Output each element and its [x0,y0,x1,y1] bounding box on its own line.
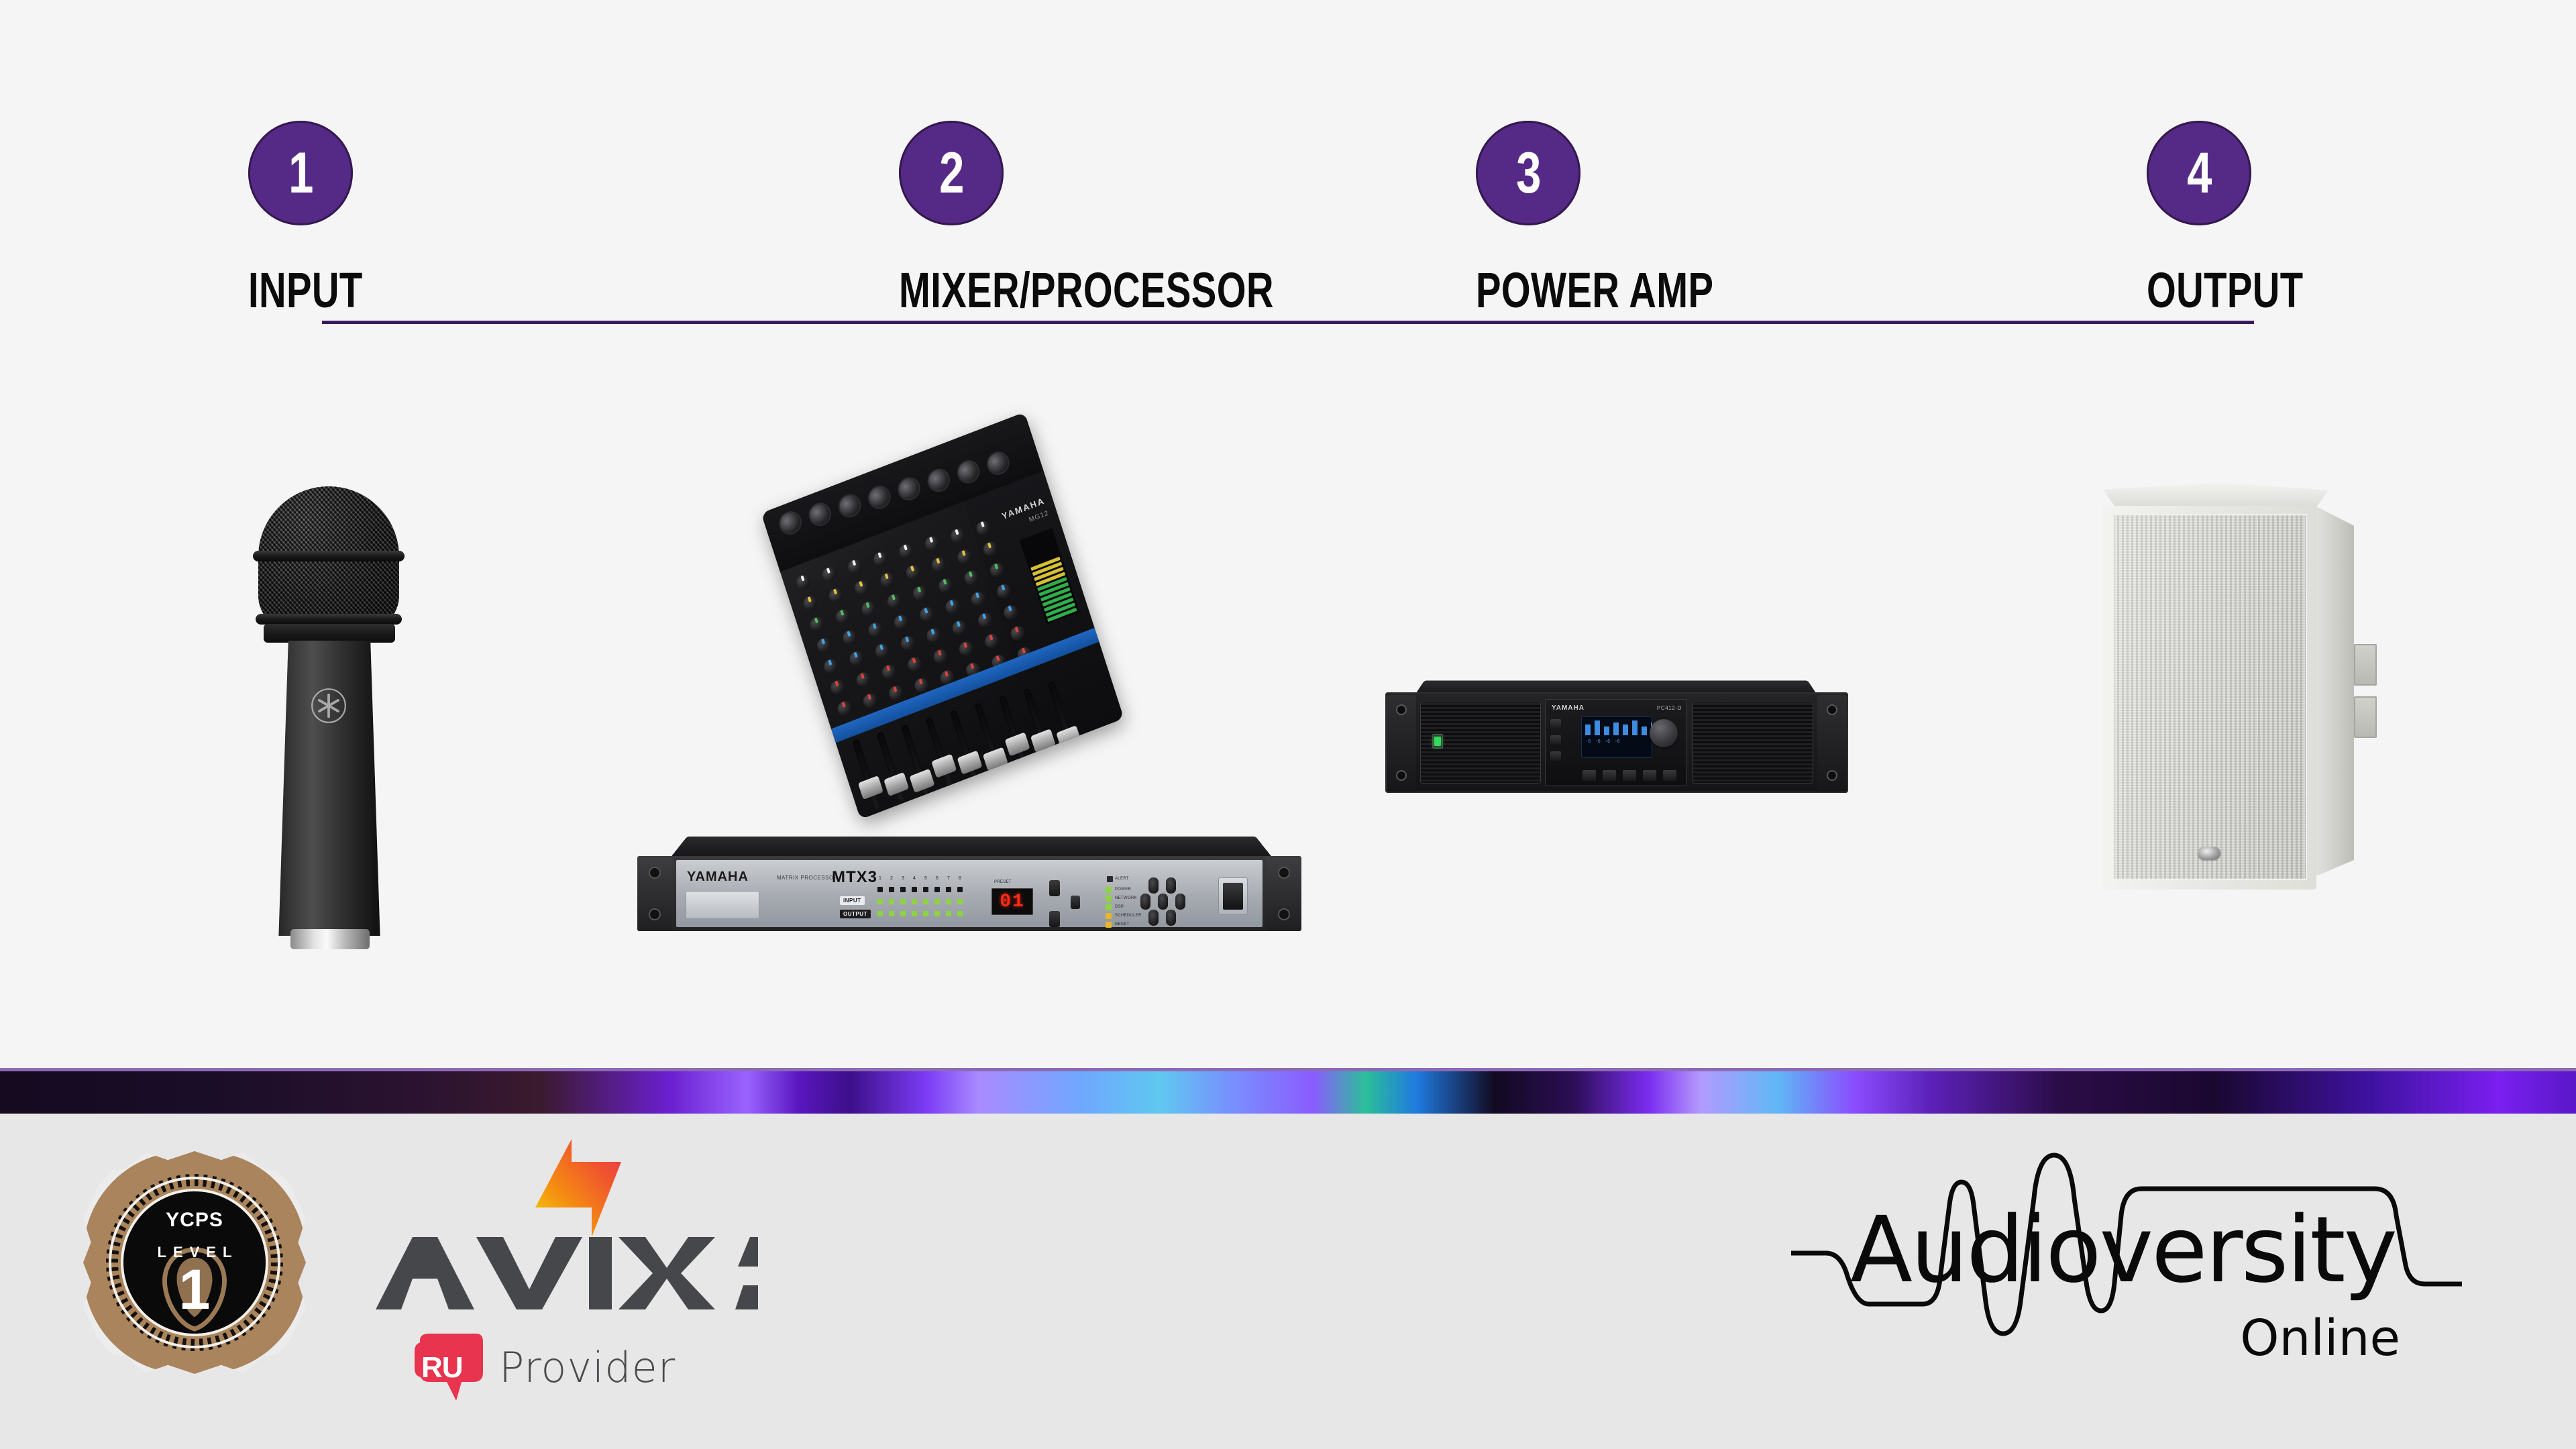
mixer-knob[interactable] [976,610,994,629]
mixer-fader-cap[interactable] [910,769,935,793]
matrix-led [923,899,928,904]
matrix-led [946,911,951,916]
mixer-knob[interactable] [846,557,863,576]
avixa-bolt-icon [530,1138,624,1238]
mixer-fader-cap[interactable] [931,754,957,778]
matrix-led [934,887,940,892]
mixer-jack [985,450,1010,476]
rack-ear-left [637,856,672,931]
amplifier-menu-button-c[interactable] [1550,751,1561,761]
matrix-led [889,887,894,892]
loudspeaker-bracket-upper [2354,644,2377,686]
mixer-knob[interactable] [944,597,961,616]
avixa-logo: RU Provider [376,1138,805,1393]
matrix-blank-plate [686,891,759,919]
mixer-knob[interactable] [872,549,890,568]
matrix-led [934,899,940,904]
amplifier-level-values: -6-6-6-6 [1585,739,1620,745]
amplifier-lcd-display: -6-6-6-6 [1581,716,1652,758]
amplifier-meter-value: -6 [1595,739,1600,745]
matrix-channel-numbers: 12345678 [877,876,963,881]
matrix-alert-label: ALERT [1115,877,1129,881]
matrix-channel-number: 4 [912,876,917,881]
mixer-jack [896,476,921,502]
matrix-status-label: SCHEDULER [1115,914,1142,918]
step-circle-4[interactable]: 4 [2147,121,2251,225]
matrix-led [912,911,917,916]
mixer-console-body: YAMAHA MG12 [761,412,1124,819]
mixer-knob[interactable] [937,576,955,595]
amplifier-chassis: YAMAHA PC412-D -6-6-6-6 [1385,692,1848,793]
microphone-collar [264,624,395,643]
matrix-processor-chassis: YAMAHA MATRIX PROCESSOR MTX3 12345678 IN… [637,856,1301,931]
mixer-knob[interactable] [861,692,879,710]
mixer-knob[interactable] [888,684,905,702]
mixer-jack [867,484,892,511]
mixer-knob[interactable] [855,670,872,689]
gradient-divider-strip [0,1068,2576,1114]
mixer-fader-cap[interactable] [858,775,883,800]
mixer-fader-cap[interactable] [957,751,983,775]
mixer-knob[interactable] [969,590,987,608]
diagram-stage: 1 INPUT 2 MIXER/PROCESSOR 3 POWER AMP 4 … [0,0,2576,1068]
mixer-knob[interactable] [904,563,922,582]
ru-label: RU [421,1351,463,1385]
mixer-knob[interactable] [836,699,853,718]
matrix-subtitle-label: MATRIX PROCESSOR [777,875,838,881]
footer-bar: YCPS LEVEL 1 [0,1114,2576,1449]
amplifier-softkey-4[interactable] [1643,770,1656,781]
mixer-fader[interactable] [852,739,881,811]
step-label-input: INPUT [248,262,363,319]
mixer-knob[interactable] [829,678,847,697]
step-circle-2[interactable]: 2 [899,121,1004,225]
amplifier-level-meters [1585,720,1652,735]
matrix-vent [1158,894,1168,910]
mixer-knob[interactable] [911,584,928,603]
mixer-knob[interactable] [795,573,812,592]
microphone-ring-upper [253,551,405,561]
matrix-status-led [1106,922,1112,928]
matrix-led [946,899,951,904]
matrix-led [912,887,917,892]
audioversity-wordmark: Audioversity [1850,1205,2396,1296]
matrix-led [900,911,906,916]
matrix-status-led [1106,913,1112,919]
mixer-knob[interactable] [885,592,903,610]
matrix-status-label: NETWORK [1115,896,1137,900]
amplifier-meter-bar [1632,720,1638,735]
loudspeaker-brand-badge [2198,847,2220,860]
mixer-knob[interactable] [860,600,877,619]
mixer-jack [956,459,981,485]
matrix-led [877,899,883,904]
mixer-knob[interactable] [925,626,943,645]
mixer-knob[interactable] [906,655,924,674]
amplifier-meter-bar [1613,722,1619,735]
amplifier-meter-bar [1595,720,1600,735]
step-number-4: 4 [2187,144,2212,202]
mixer-knob[interactable] [873,641,891,660]
step-number-1: 1 [288,144,313,202]
step-circle-1[interactable]: 1 [248,121,353,225]
mixer-jack [808,501,833,527]
badge-inner-disc: YCPS LEVEL 1 [123,1191,266,1334]
amplifier-model-label: PC412-D [1657,705,1682,711]
amplifier-control-panel: YAMAHA PC412-D -6-6-6-6 [1545,699,1687,786]
provider-label: Provider [499,1343,676,1392]
loudspeaker-cabinet [2102,506,2316,890]
matrix-led [877,911,883,916]
mixer-knob[interactable] [918,605,936,624]
matrix-led [889,911,894,916]
step-number-3: 3 [1516,144,1541,202]
matrix-output-led-row [877,911,963,916]
matrix-led [923,887,928,892]
loudspeaker-grille [2112,514,2307,880]
avixa-ru-provider: RU Provider [412,1331,734,1405]
stepper-connector-line [322,321,2254,324]
amplifier-vent-right [1693,702,1813,784]
amplifier-meter-value: -6 [1614,739,1619,745]
mixer-knob[interactable] [834,607,851,626]
mixer-knob[interactable] [802,594,819,612]
matrix-led [889,899,894,904]
audioversity-logo: Audioversity Online [1791,1140,2462,1395]
matrix-brand-label: YAMAHA [687,869,749,885]
mixer-knob[interactable] [808,615,826,634]
ycps-certification-badge: YCPS LEVEL 1 [74,1142,315,1383]
matrix-up-button[interactable] [1049,880,1060,896]
matrix-channel-number: 5 [923,876,928,881]
matrix-channel-number: 1 [877,876,883,881]
matrix-led [957,899,963,904]
mixer-knob[interactable] [820,565,838,584]
amplifier-meter-bar [1604,727,1609,735]
matrix-peak-led-row [877,887,963,892]
matrix-led [900,887,906,892]
matrix-preset-value: 01 [1000,892,1025,912]
microphone-ring-lower [256,614,402,625]
matrix-input-tag: INPUT [840,896,865,905]
mixer-image: YAMAHA MG12 [761,443,1191,818]
mixer-knob[interactable] [983,632,1001,651]
amplifier-meter-value: -6 [1605,739,1610,745]
amplifier-softkey-3[interactable] [1623,770,1636,781]
power-amplifier-image: YAMAHA PC412-D -6-6-6-6 [1385,678,1848,812]
step-label-power-amp: POWER AMP [1476,262,1713,319]
matrix-alert-led [1107,876,1113,882]
mixer-knob[interactable] [963,569,980,588]
loudspeaker-image [2096,483,2378,926]
matrix-processor-image: YAMAHA MATRIX PROCESSOR MTX3 12345678 IN… [637,832,1301,946]
mixer-knob[interactable] [867,621,884,639]
matrix-led [877,887,883,892]
matrix-channel-number: 8 [957,876,963,881]
matrix-vent [1140,894,1150,910]
matrix-led [946,887,951,892]
mixer-knob[interactable] [841,628,859,647]
mixer-knob[interactable] [822,657,840,676]
amplifier-softkey-5[interactable] [1663,770,1676,781]
matrix-led [900,899,906,904]
microphone-xlr-base [290,929,370,949]
mixer-knob[interactable] [898,542,915,561]
yamaha-tuning-fork-icon [311,688,347,724]
matrix-vent [1175,894,1185,910]
amplifier-rotary-encoder[interactable] [1650,719,1678,747]
step-number-2: 2 [939,144,964,202]
matrix-channel-number: 6 [934,876,940,881]
loudspeaker-bracket-lower [2354,696,2377,738]
amplifier-menu-button-a[interactable] [1550,719,1561,729]
microphone-image [238,486,419,956]
matrix-led [923,911,928,916]
mixer-knob[interactable] [932,647,949,666]
mixer-fader-cap[interactable] [1005,732,1030,756]
amplifier-meter-bar [1642,727,1647,735]
matrix-status-label: RESET [1115,922,1130,926]
mixer-knob[interactable] [848,649,865,668]
mixer-knob[interactable] [879,571,896,590]
avixa-wordmark [376,1237,758,1311]
audioversity-tagline: Online [2240,1309,2400,1367]
rack-ear-right [1267,856,1301,931]
mixer-knob[interactable] [956,547,973,566]
matrix-enter-button[interactable] [1071,896,1080,909]
matrix-processor-top-panel [669,837,1273,859]
step-label-mixer-processor: MIXER/PROCESSOR [899,262,1274,319]
badge-org-label: YCPS [123,1209,266,1232]
matrix-channel-number: 3 [900,876,906,881]
amplifier-meter-bar [1585,724,1591,735]
amplifier-meter-bar [1623,724,1628,735]
badge-level-number: 1 [123,1261,266,1318]
matrix-vent [1166,877,1176,894]
matrix-status-label: DSP [1115,905,1124,909]
amplifier-brand-label: YAMAHA [1552,704,1585,712]
mixer-knob[interactable] [892,612,910,631]
matrix-vent [1148,910,1159,926]
mixer-knob[interactable] [827,586,845,605]
matrix-channel-number: 2 [889,876,894,881]
matrix-status-led [1106,887,1112,893]
mixer-knob[interactable] [899,634,916,653]
mixer-knob[interactable] [815,636,833,655]
step-circle-3[interactable]: 3 [1476,121,1580,225]
mixer-fader-cap[interactable] [983,747,1008,771]
product-images-row: YAMAHA MG12 YAMAHA MATRIX PROCESSOR MTX3 [0,443,2576,993]
amplifier-power-led[interactable] [1432,734,1443,749]
mixer-knob[interactable] [853,578,871,597]
mixer-knob[interactable] [957,639,975,658]
matrix-input-led-row [877,899,963,904]
mixer-jack [777,510,802,536]
matrix-vent [1148,877,1159,894]
mixer-knob[interactable] [951,619,968,637]
matrix-preset-display: 01 [991,888,1033,915]
matrix-status-led [1106,896,1112,902]
matrix-preset-label: PRESET [994,880,1012,884]
matrix-led [957,887,963,892]
microphone-handle [269,641,390,936]
matrix-output-tag: OUTPUT [840,910,871,918]
signal-chain-stepper: 1 INPUT 2 MIXER/PROCESSOR 3 POWER AMP 4 … [0,121,2576,402]
amplifier-menu-button-b[interactable] [1550,735,1561,745]
matrix-status-label: POWER [1115,888,1131,892]
matrix-led [957,911,963,916]
rack-ear-right [1817,695,1847,790]
mixer-fader-cap[interactable] [883,772,909,796]
matrix-led [912,899,917,904]
amplifier-softkey-2[interactable] [1603,770,1616,781]
rack-ear-left [1387,695,1416,790]
matrix-down-button[interactable] [1049,911,1060,927]
matrix-vent [1166,910,1176,926]
mixer-knob[interactable] [880,663,898,682]
mixer-jack [926,467,951,493]
mixer-jack [837,492,862,519]
matrix-status-led [1106,904,1112,910]
matrix-channel-number: 7 [946,876,951,881]
amplifier-meter-value: -6 [1585,739,1591,745]
amplifier-softkey-1[interactable] [1582,770,1596,781]
matrix-model-label: MTX3 [832,868,877,887]
mixer-knob[interactable] [949,527,967,545]
matrix-processor-front-panel: YAMAHA MATRIX PROCESSOR MTX3 12345678 IN… [676,860,1263,927]
matrix-power-switch[interactable] [1218,877,1248,915]
step-label-output: OUTPUT [2147,262,2303,319]
matrix-led [934,911,940,916]
mixer-knob[interactable] [930,555,948,574]
mixer-knob[interactable] [923,534,941,553]
